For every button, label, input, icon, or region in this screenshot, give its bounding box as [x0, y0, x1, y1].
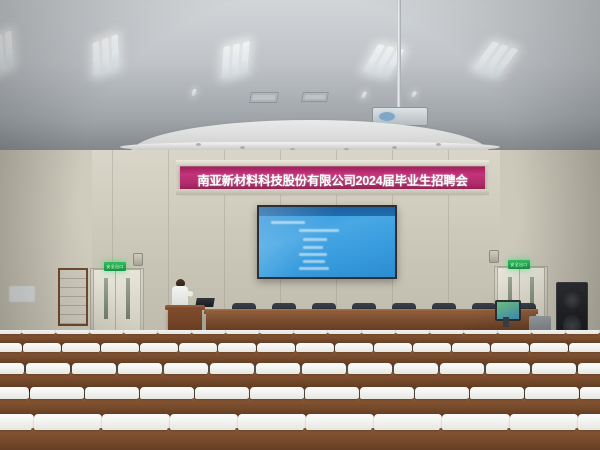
auditorium-seat[interactable]	[473, 396, 521, 416]
seat-headrest-cover	[569, 343, 600, 352]
screen-glare	[259, 207, 395, 277]
wall-light-patch	[9, 286, 35, 302]
auditorium-seat[interactable]	[166, 371, 206, 388]
seat-headrest-cover	[566, 330, 600, 334]
seat-headrest-cover	[250, 387, 304, 399]
auditorium-seat[interactable]	[534, 371, 574, 388]
exit-door-left[interactable]	[90, 268, 144, 332]
auditorium-seat[interactable]	[310, 426, 370, 450]
seat-headrest-cover	[85, 387, 139, 399]
exit-sign-1: 安全出口	[104, 262, 126, 271]
seat-headrest-cover	[0, 330, 22, 334]
seat-wood-frame	[371, 428, 445, 450]
seat-wood-frame	[507, 428, 581, 450]
auditorium-seat[interactable]	[514, 426, 574, 450]
exit-sign-2: 安全出口	[508, 260, 530, 269]
seat-headrest-cover	[0, 387, 29, 399]
auditorium-seat[interactable]	[304, 371, 344, 388]
seat-headrest-cover	[464, 330, 498, 334]
seat-headrest-cover	[34, 414, 101, 430]
soffit-downlight	[240, 146, 245, 149]
seat-headrest-cover	[0, 414, 34, 430]
seat-wood-frame	[439, 428, 513, 450]
seat-headrest-cover	[118, 363, 163, 374]
auditorium-seat[interactable]	[580, 371, 600, 388]
auditorium-seat[interactable]	[38, 426, 98, 450]
event-banner: 南亚新材料科技股份有限公司2024届毕业生招聘会	[180, 166, 485, 191]
auditorium-seat[interactable]	[74, 371, 114, 388]
seat-headrest-cover	[101, 343, 139, 352]
seat-headrest-cover	[257, 343, 295, 352]
seat-headrest-cover	[306, 414, 373, 430]
seat-headrest-cover	[578, 363, 600, 374]
auditorium-seat[interactable]	[446, 426, 506, 450]
seat-headrest-cover	[158, 330, 192, 334]
seat-headrest-cover	[362, 330, 396, 334]
seat-headrest-cover	[440, 363, 485, 374]
seat-headrest-cover	[0, 343, 22, 352]
seat-headrest-cover	[532, 330, 566, 334]
seat-headrest-cover	[525, 387, 579, 399]
auditorium-seat[interactable]	[0, 371, 22, 388]
auditorium-seat[interactable]	[198, 396, 246, 416]
seat-headrest-cover	[294, 330, 328, 334]
auditorium-seat[interactable]	[212, 371, 252, 388]
seat-headrest-cover	[491, 343, 529, 352]
seat-headrest-cover	[102, 414, 169, 430]
auditorium-seat[interactable]	[308, 396, 356, 416]
seat-headrest-cover	[140, 387, 194, 399]
auditorium-seat[interactable]	[0, 426, 30, 450]
seat-headrest-cover	[195, 387, 249, 399]
wooden-notice-board	[58, 268, 88, 326]
seat-headrest-cover	[23, 343, 61, 352]
door-glass	[126, 278, 130, 319]
soffit-downlight	[392, 146, 397, 149]
seat-headrest-cover	[374, 343, 412, 352]
auditorium-seat[interactable]	[396, 371, 436, 388]
seat-headrest-cover	[530, 343, 568, 352]
auditorium-seat[interactable]	[0, 396, 26, 416]
seat-headrest-cover	[56, 330, 90, 334]
seat-headrest-cover	[415, 387, 469, 399]
auditorium-seat[interactable]	[174, 426, 234, 450]
seat-wood-frame	[31, 428, 105, 450]
lecture-hall-photo: 安全出口安全出口 南亚新材料科技股份有限公司2024届毕业生招聘会	[0, 0, 600, 450]
seat-wood-frame	[167, 428, 241, 450]
seat-headrest-cover	[218, 343, 256, 352]
seat-headrest-cover	[260, 330, 294, 334]
exit-sign-label: 安全出口	[510, 263, 527, 267]
auditorium-seat[interactable]	[33, 396, 81, 416]
auditorium-seat[interactable]	[582, 426, 600, 450]
seat-headrest-cover	[578, 414, 600, 430]
auditorium-seat[interactable]	[253, 396, 301, 416]
seat-headrest-cover	[170, 414, 237, 430]
seat-headrest-cover	[580, 387, 600, 399]
seat-headrest-cover	[510, 414, 577, 430]
seat-headrest-cover	[256, 363, 301, 374]
banner-title: 南亚新材料科技股份有限公司2024届毕业生招聘会	[197, 170, 467, 189]
auditorium-seat[interactable]	[363, 396, 411, 416]
auditorium-seat[interactable]	[106, 426, 166, 450]
seat-headrest-cover	[394, 363, 439, 374]
seat-headrest-cover	[452, 343, 490, 352]
auditorium-seat[interactable]	[143, 396, 191, 416]
door-glass	[104, 278, 108, 319]
audience-area	[0, 330, 600, 450]
seat-headrest-cover	[328, 330, 362, 334]
auditorium-seat[interactable]	[442, 371, 482, 388]
door-leaf-right[interactable]	[115, 269, 141, 331]
seat-headrest-cover	[0, 363, 24, 374]
wall-speaker-2	[489, 250, 499, 263]
projection-screen	[259, 207, 395, 277]
soffit-downlight	[196, 143, 201, 146]
seat-headrest-cover	[192, 330, 226, 334]
seat-headrest-cover	[62, 343, 100, 352]
seat-headrest-cover	[442, 414, 509, 430]
auditorium-seat[interactable]	[418, 396, 466, 416]
banner-rail-bottom	[176, 189, 489, 195]
seat-headrest-cover	[140, 343, 178, 352]
seat-wood-frame	[575, 428, 600, 450]
seat-headrest-cover	[30, 387, 84, 399]
seat-headrest-cover	[26, 363, 71, 374]
auditorium-seat[interactable]	[88, 396, 136, 416]
projector-mount-pole	[397, 0, 401, 112]
seat-headrest-cover	[72, 363, 117, 374]
seat-wood-frame	[235, 428, 309, 450]
seat-headrest-cover	[90, 330, 124, 334]
seat-headrest-cover	[226, 330, 260, 334]
seat-headrest-cover	[164, 363, 209, 374]
seat-headrest-cover	[305, 387, 359, 399]
seat-headrest-cover	[296, 343, 334, 352]
auditorium-seat[interactable]	[258, 371, 298, 388]
seat-headrest-cover	[22, 330, 56, 334]
seat-headrest-cover	[124, 330, 158, 334]
seat-headrest-cover	[179, 343, 217, 352]
seat-headrest-cover	[413, 343, 451, 352]
projection-screen-frame	[257, 205, 397, 279]
auditorium-seat[interactable]	[378, 426, 438, 450]
seat-headrest-cover	[430, 330, 464, 334]
auditorium-seat[interactable]	[583, 396, 600, 416]
seat-headrest-cover	[486, 363, 531, 374]
seat-wood-frame	[303, 428, 377, 450]
seat-headrest-cover	[396, 330, 430, 334]
wall-speaker-1	[133, 253, 143, 266]
exit-sign-label: 安全出口	[106, 265, 123, 269]
seat-wood-frame	[99, 428, 173, 450]
monitor-stand	[503, 317, 509, 327]
soffit-downlight	[436, 143, 441, 146]
seat-headrest-cover	[348, 363, 393, 374]
seat-headrest-cover	[374, 414, 441, 430]
auditorium-seat[interactable]	[120, 371, 160, 388]
auditorium-seat[interactable]	[528, 396, 576, 416]
seat-headrest-cover	[210, 363, 255, 374]
auditorium-seat[interactable]	[28, 371, 68, 388]
seat-headrest-cover	[498, 330, 532, 334]
auditorium-seat[interactable]	[350, 371, 390, 388]
seat-headrest-cover	[470, 387, 524, 399]
auditorium-seat[interactable]	[488, 371, 528, 388]
seat-headrest-cover	[335, 343, 373, 352]
seat-headrest-cover	[532, 363, 577, 374]
seat-headrest-cover	[238, 414, 305, 430]
auditorium-seat[interactable]	[242, 426, 302, 450]
seat-headrest-cover	[360, 387, 414, 399]
seat-headrest-cover	[302, 363, 347, 374]
